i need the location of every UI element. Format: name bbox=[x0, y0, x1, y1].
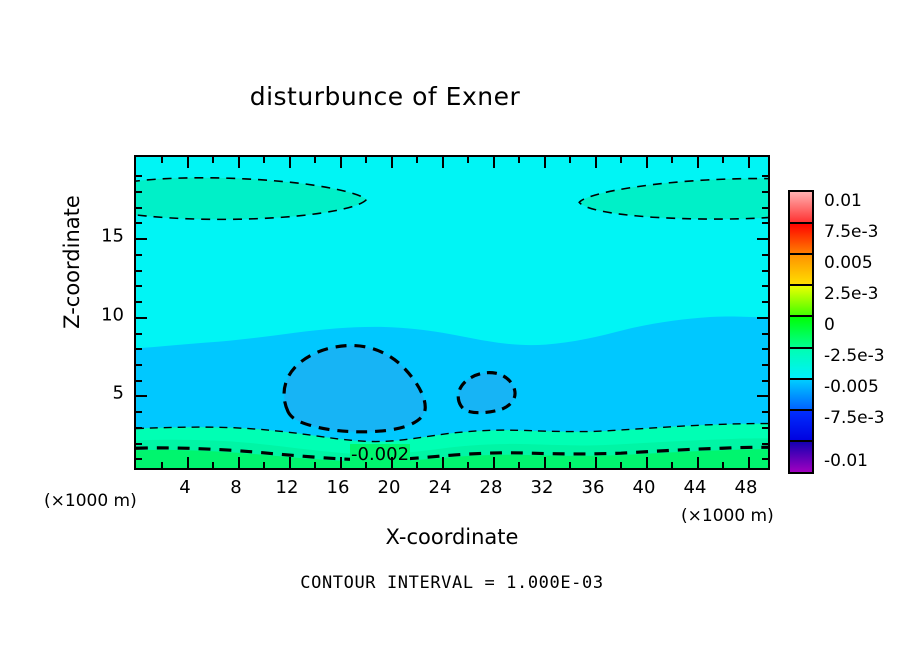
xtick-top-minor-22 bbox=[416, 157, 418, 163]
colorbar-cell-8 bbox=[790, 441, 812, 472]
ytick-minor-9 bbox=[136, 333, 142, 335]
xtick-label-44: 44 bbox=[684, 477, 707, 498]
ytick-right-minor-8 bbox=[762, 348, 768, 350]
colorbar-label-8: -0.01 bbox=[824, 451, 868, 471]
ytick-minor-14 bbox=[136, 254, 142, 256]
ytick-minor-12 bbox=[136, 285, 142, 287]
ytick-minor-2 bbox=[136, 443, 142, 445]
ytick-minor-11 bbox=[136, 301, 142, 303]
xtick-label-12: 12 bbox=[276, 477, 299, 498]
ytick-right-minor-3 bbox=[762, 427, 768, 429]
xtick-top-28 bbox=[493, 157, 495, 168]
ytick-5 bbox=[136, 395, 147, 397]
ytick-right-minor-11 bbox=[762, 301, 768, 303]
xtick-4 bbox=[187, 457, 189, 468]
xtick-8 bbox=[238, 457, 240, 468]
xtick-label-48: 48 bbox=[735, 477, 758, 498]
colorbar-cell-0 bbox=[790, 192, 812, 223]
contour-field bbox=[136, 157, 768, 468]
ytick-label-5: 5 bbox=[94, 383, 124, 404]
xtick-label-36: 36 bbox=[582, 477, 605, 498]
colorbar-cell-7 bbox=[790, 410, 812, 441]
colorbar-cell-1 bbox=[790, 223, 812, 254]
ytick-right-minor-16 bbox=[762, 222, 768, 224]
ytick-right-minor-1 bbox=[762, 458, 768, 460]
colorbar-label-4: 0 bbox=[824, 315, 835, 335]
xtick-label-16: 16 bbox=[327, 477, 350, 498]
ytick-right-10 bbox=[757, 317, 768, 319]
xtick-36 bbox=[595, 457, 597, 468]
xtick-top-44 bbox=[697, 157, 699, 168]
xtick-top-40 bbox=[646, 157, 648, 168]
colorbar-sep-5 bbox=[790, 347, 812, 349]
contour-interval-note: CONTOUR INTERVAL = 1.000E-03 bbox=[0, 573, 904, 593]
ytick-right-minor-4 bbox=[762, 411, 768, 413]
xtick-top-24 bbox=[442, 157, 444, 168]
colorbar-sep-3 bbox=[790, 284, 812, 286]
ytick-right-minor-14 bbox=[762, 254, 768, 256]
ytick-right-minor-18 bbox=[762, 191, 768, 193]
ytick-minor-19 bbox=[136, 175, 142, 177]
xtick-top-minor-18 bbox=[365, 157, 367, 163]
ytick-10 bbox=[136, 317, 147, 319]
xtick-label-20: 20 bbox=[378, 477, 401, 498]
xtick-top-minor-42 bbox=[671, 157, 673, 163]
xtick-minor-34 bbox=[569, 462, 571, 468]
colorbar-label-1: 7.5e-3 bbox=[824, 222, 878, 242]
ytick-15 bbox=[136, 238, 147, 240]
ytick-right-minor-12 bbox=[762, 285, 768, 287]
xtick-minor-30 bbox=[518, 462, 520, 468]
ytick-label-10: 10 bbox=[94, 305, 124, 326]
xtick-minor-10 bbox=[263, 462, 265, 468]
ytick-right-minor-13 bbox=[762, 270, 768, 272]
ytick-minor-7 bbox=[136, 364, 142, 366]
xtick-minor-38 bbox=[620, 462, 622, 468]
xtick-48 bbox=[748, 457, 750, 468]
xtick-label-24: 24 bbox=[429, 477, 452, 498]
xtick-label-28: 28 bbox=[480, 477, 503, 498]
xtick-minor-6 bbox=[212, 462, 214, 468]
xtick-top-minor-34 bbox=[569, 157, 571, 163]
ytick-right-minor-19 bbox=[762, 175, 768, 177]
xtick-minor-14 bbox=[314, 462, 316, 468]
ytick-minor-3 bbox=[136, 427, 142, 429]
x-unit-label-left: (×1000 m) bbox=[44, 491, 137, 511]
colorbar-sep-8 bbox=[790, 440, 812, 442]
ytick-minor-18 bbox=[136, 191, 142, 193]
xtick-top-48 bbox=[748, 157, 750, 168]
xtick-top-minor-6 bbox=[212, 157, 214, 163]
colorbar-cell-3 bbox=[790, 285, 812, 316]
contour-plot-figure: disturbunce of Exner bbox=[0, 0, 904, 654]
xtick-16 bbox=[340, 457, 342, 468]
xtick-top-minor-2 bbox=[161, 157, 163, 163]
xtick-label-4: 4 bbox=[179, 477, 190, 498]
y-axis-title: Z-coordinate bbox=[60, 152, 84, 372]
colorbar-cell-5 bbox=[790, 348, 812, 379]
xtick-top-8 bbox=[238, 157, 240, 168]
xtick-top-minor-38 bbox=[620, 157, 622, 163]
xtick-32 bbox=[544, 457, 546, 468]
xtick-label-8: 8 bbox=[230, 477, 241, 498]
xtick-top-minor-30 bbox=[518, 157, 520, 163]
xtick-minor-22 bbox=[416, 462, 418, 468]
xtick-top-36 bbox=[595, 157, 597, 168]
xtick-top-4 bbox=[187, 157, 189, 168]
ytick-minor-13 bbox=[136, 270, 142, 272]
xtick-top-20 bbox=[391, 157, 393, 168]
ytick-minor-4 bbox=[136, 411, 142, 413]
xtick-top-minor-10 bbox=[263, 157, 265, 163]
ytick-right-minor-6 bbox=[762, 380, 768, 382]
colorbar-label-6: -0.005 bbox=[824, 377, 879, 397]
plot-area: -0.002 bbox=[134, 155, 770, 470]
xtick-minor-18 bbox=[365, 462, 367, 468]
ytick-right-minor-9 bbox=[762, 333, 768, 335]
xtick-label-40: 40 bbox=[633, 477, 656, 498]
ytick-right-minor-2 bbox=[762, 443, 768, 445]
colorbar[interactable] bbox=[788, 190, 814, 474]
ytick-minor-17 bbox=[136, 207, 142, 209]
x-axis-title: X-coordinate bbox=[134, 525, 770, 549]
contour-value-label: -0.002 bbox=[350, 444, 410, 465]
colorbar-label-7: -7.5e-3 bbox=[824, 408, 885, 428]
xtick-top-16 bbox=[340, 157, 342, 168]
colorbar-cell-6 bbox=[790, 379, 812, 410]
colorbar-sep-2 bbox=[790, 253, 812, 255]
colorbar-label-2: 0.005 bbox=[824, 253, 873, 273]
xtick-top-minor-14 bbox=[314, 157, 316, 163]
colorbar-label-5: -2.5e-3 bbox=[824, 346, 885, 366]
colorbar-sep-7 bbox=[790, 409, 812, 411]
xtick-44 bbox=[697, 457, 699, 468]
ytick-label-15: 15 bbox=[94, 226, 124, 247]
colorbar-sep-6 bbox=[790, 378, 812, 380]
ytick-minor-1 bbox=[136, 458, 142, 460]
xtick-28 bbox=[493, 457, 495, 468]
xtick-top-32 bbox=[544, 157, 546, 168]
colorbar-cell-4 bbox=[790, 316, 812, 347]
colorbar-sep-1 bbox=[790, 222, 812, 224]
ytick-minor-6 bbox=[136, 380, 142, 382]
colorbar-cell-2 bbox=[790, 254, 812, 285]
xtick-20 bbox=[391, 457, 393, 468]
colorbar-label-3: 2.5e-3 bbox=[824, 284, 878, 304]
ytick-right-15 bbox=[757, 238, 768, 240]
xtick-24 bbox=[442, 457, 444, 468]
ytick-minor-16 bbox=[136, 222, 142, 224]
xtick-top-12 bbox=[289, 157, 291, 168]
x-unit-label-right: (×1000 m) bbox=[681, 506, 774, 526]
xtick-minor-26 bbox=[467, 462, 469, 468]
ytick-right-minor-17 bbox=[762, 207, 768, 209]
xtick-minor-2 bbox=[161, 462, 163, 468]
xtick-minor-46 bbox=[722, 462, 724, 468]
page-title: disturbunce of Exner bbox=[0, 82, 770, 111]
xtick-12 bbox=[289, 457, 291, 468]
colorbar-label-0: 0.01 bbox=[824, 191, 862, 211]
ytick-minor-8 bbox=[136, 348, 142, 350]
ytick-right-minor-7 bbox=[762, 364, 768, 366]
ytick-right-5 bbox=[757, 395, 768, 397]
xtick-40 bbox=[646, 457, 648, 468]
xtick-label-32: 32 bbox=[531, 477, 554, 498]
colorbar-sep-4 bbox=[790, 315, 812, 317]
xtick-top-minor-46 bbox=[722, 157, 724, 163]
xtick-top-minor-26 bbox=[467, 157, 469, 163]
xtick-minor-42 bbox=[671, 462, 673, 468]
